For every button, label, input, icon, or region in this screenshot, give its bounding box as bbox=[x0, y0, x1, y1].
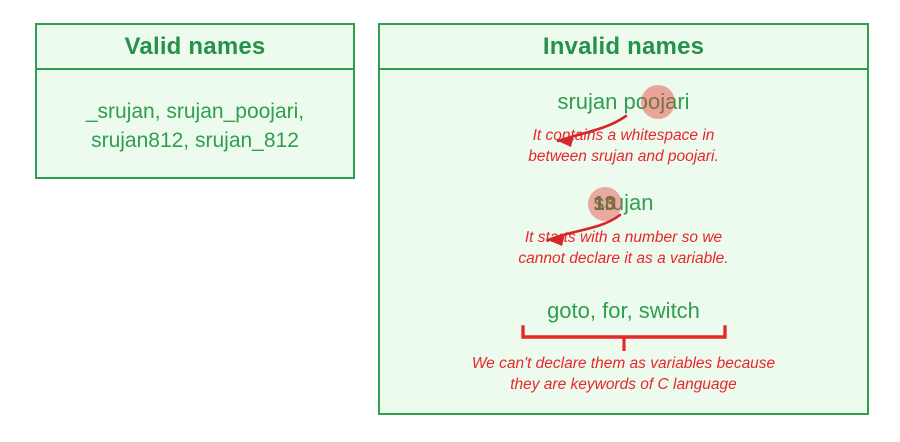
keywords-bracket-wrap bbox=[380, 323, 867, 353]
invalid-case-leading-number: srujan 13 It starts with a number so we … bbox=[380, 191, 867, 269]
invalid-case-keywords-note: We can't declare them as variables becau… bbox=[380, 354, 867, 395]
valid-names-title: Valid names bbox=[125, 33, 266, 61]
valid-names-line-2: srujan812, srujan_812 bbox=[86, 127, 304, 155]
invalid-case-keywords-note-line-2: they are keywords of C language bbox=[380, 375, 867, 395]
invalid-case-keywords-note-line-1: We can't declare them as variables becau… bbox=[380, 354, 867, 374]
invalid-case-keywords: goto, for, switch We can't declare them … bbox=[380, 299, 867, 395]
invalid-case-keywords-term: goto, for, switch bbox=[547, 299, 700, 323]
valid-names-panel: Valid names _srujan, srujan_poojari, sru… bbox=[35, 23, 355, 179]
invalid-names-body: srujan poojari It contains a whitespace … bbox=[380, 70, 867, 413]
invalid-names-header: Invalid names bbox=[380, 25, 867, 70]
invalid-names-panel: Invalid names srujan poojari It contains… bbox=[378, 23, 869, 415]
valid-names-header: Valid names bbox=[37, 25, 353, 70]
invalid-names-title: Invalid names bbox=[543, 33, 704, 61]
valid-names-line-1: _srujan, srujan_poojari, bbox=[86, 98, 304, 126]
invalid-case-leading-number-note-line-2: cannot declare it as a variable. bbox=[380, 249, 867, 269]
curved-arrow-icon bbox=[504, 207, 634, 249]
valid-names-body: _srujan, srujan_poojari, srujan812, sruj… bbox=[37, 70, 353, 177]
curved-arrow-icon bbox=[514, 110, 644, 152]
bracket-icon bbox=[520, 325, 728, 353]
valid-names-list: _srujan, srujan_poojari, srujan812, sruj… bbox=[86, 98, 304, 154]
invalid-case-whitespace: srujan poojari It contains a whitespace … bbox=[380, 90, 867, 167]
highlight-circle-icon bbox=[641, 85, 675, 119]
